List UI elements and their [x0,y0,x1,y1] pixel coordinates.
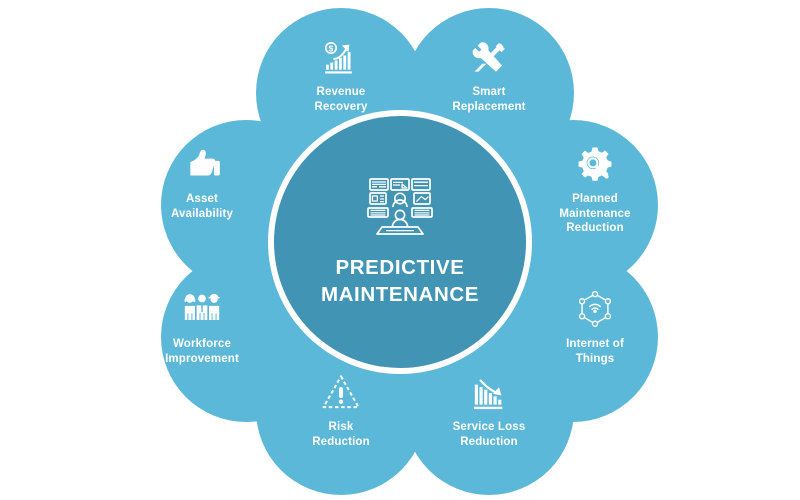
petal-content: Service Loss Reduction [423,373,555,449]
control-room-operator-monitors-icon [364,175,436,239]
petal-label: Internet of Things [566,337,624,366]
svg-text:$: $ [329,43,334,53]
petal-content: $ Revenue Recovery [275,38,407,114]
petal-label: Planned Maintenance Reduction [559,192,630,236]
petal-label: Workforce Improvement [165,337,239,366]
thumbs-up-icon [182,145,222,185]
petal-label: Smart Replacement [452,85,525,114]
petal-content: Workforce Improvement [136,290,268,366]
bar-chart-down-arrow-icon [469,373,509,413]
petal-label: Asset Availability [171,192,233,221]
predictive-maintenance-infographic: $ Revenue Recovery [0,0,800,500]
warning-triangle-dashed-icon [321,373,361,413]
petal-content: Smart Replacement [423,38,555,114]
center-hub-title: PREDICTIVE MAINTENANCE [321,255,479,308]
petal-content: Planned Maintenance Reduction [529,145,661,236]
hexagon-network-wifi-icon [575,290,615,330]
petal-label: Revenue Recovery [315,85,368,114]
petal-label: Service Loss Reduction [453,420,526,449]
crossed-wrench-screwdriver-icon [469,38,509,78]
bar-chart-up-arrow-dollar-icon: $ [321,38,361,78]
center-hub-predictive-maintenance[interactable]: PREDICTIVE MAINTENANCE [274,116,526,368]
petal-label: Risk Reduction [312,420,370,449]
three-workers-icon [182,290,222,330]
petal-content: Asset Availability [136,145,268,221]
gear-magnifier-icon [575,145,615,185]
